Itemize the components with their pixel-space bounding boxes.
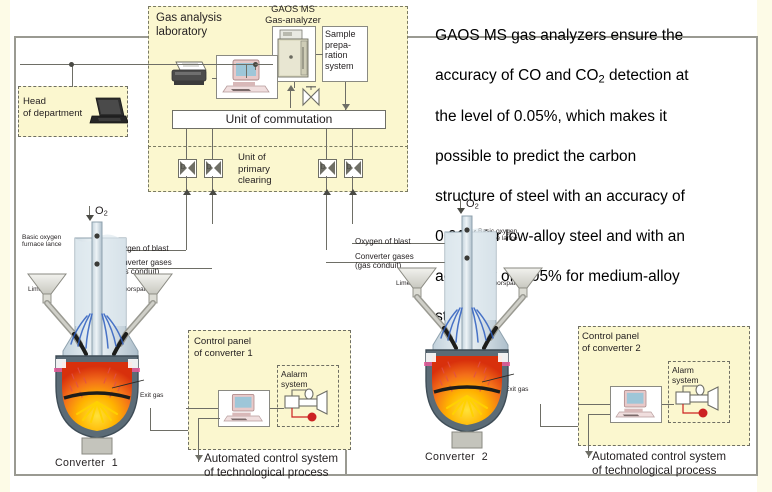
line-clearing-down-4 <box>352 176 353 224</box>
sample-valve-icon <box>300 86 322 108</box>
line-conv2-to-cp2 <box>540 426 578 427</box>
unit-of-commutation-label: Unit of commutation <box>172 113 386 126</box>
control-panel-2-computer <box>610 386 662 423</box>
line-printer-to-comp <box>212 78 217 79</box>
arrow-cp1-acs <box>195 455 203 461</box>
line-cp2-in <box>578 404 610 405</box>
converter-2-illustration <box>388 210 553 450</box>
converter-2-name: Converter 2 <box>425 452 488 464</box>
gaos-analyzer-title: GAOS MS Gas-analyzer <box>258 4 328 26</box>
arrow-up-2 <box>209 189 217 195</box>
line-bus-to-gaos <box>255 64 273 65</box>
line-gaos-to-sample <box>316 54 323 55</box>
computer-icon <box>611 387 661 422</box>
line-conv2-riser <box>540 404 541 426</box>
clearing-valve-3: D <box>318 159 337 178</box>
head-of-department-label: Head of department <box>23 96 82 119</box>
line-clearing-down-2 <box>212 176 213 224</box>
line-clearing-down-3 <box>326 176 327 250</box>
arrow-valve-up <box>287 85 295 91</box>
control-panel-2-title: Control panel of converter 2 <box>582 331 641 354</box>
line-bus-to-comp <box>246 64 247 78</box>
line-head-drop <box>72 64 73 87</box>
clearing-valve-4: D <box>344 159 363 178</box>
automated-control-system-1-label: Automated control system of technologica… <box>204 452 338 480</box>
arrow-up-1 <box>183 189 191 195</box>
control-panel-1-computer <box>218 390 270 427</box>
junction-dot-head <box>69 62 74 67</box>
clearing-valve-1: D <box>178 159 197 178</box>
line-valve-up <box>290 88 291 108</box>
converter-1-illustration <box>18 216 183 456</box>
automated-control-system-2-label: Automated control system of technologica… <box>592 450 726 478</box>
clearing-valve-2: D <box>204 159 223 178</box>
computer-icon <box>217 56 277 98</box>
control-panel-1-title: Control panel of converter 1 <box>194 336 253 359</box>
desc-line-2a: accuracy of CO and CO <box>435 67 598 84</box>
line-cp2-acs-stub <box>588 414 610 415</box>
desc-line-4: possible to predict the carbon <box>435 148 636 165</box>
converter-2-o2-label: O2 <box>466 198 479 211</box>
line-cp1-acs-stub <box>198 418 220 419</box>
line-lab-bus <box>20 64 255 65</box>
laptop-icon <box>88 96 128 135</box>
line-commut-leg-4 <box>352 129 353 159</box>
unit-of-primary-clearing-label: Unit of primary clearing <box>238 152 272 187</box>
line-commut-leg-2 <box>212 129 213 159</box>
line-clearing-down-1 <box>186 176 187 250</box>
line-commut-leg-3 <box>326 129 327 159</box>
line-cp1-alarm-link <box>270 408 284 409</box>
laboratory-computer-box <box>216 55 278 99</box>
arrow-sample-down <box>342 104 350 110</box>
arrow-up-4 <box>349 189 357 195</box>
desc-line-1: GAOS MS gas analyzers ensure the <box>435 27 683 44</box>
sample-preparation-system-label: Sample prepa- ration system <box>325 29 367 71</box>
converter-1-name: Converter 1 <box>55 458 118 470</box>
line-commut-leg-1 <box>186 129 187 159</box>
siren-icon <box>282 386 336 429</box>
arrow-up-3 <box>323 189 331 195</box>
line-conv1-riser <box>150 408 151 430</box>
gas-analyzer-cabinet-icon <box>273 27 315 81</box>
line-conv1-to-cp1 <box>150 430 188 431</box>
line-cp2-alarm-link <box>662 404 674 405</box>
desc-line-2b: detection at <box>605 67 689 84</box>
line-cp1-in <box>186 408 218 409</box>
diagram-canvas: GAOS MS gas analyzers ensure the accurac… <box>0 0 772 492</box>
gas-analysis-laboratory-title: Gas analysis laboratory <box>156 12 222 39</box>
gaos-analyzer-box <box>272 26 316 82</box>
computer-icon <box>219 391 269 426</box>
left-margin-strip <box>0 0 10 492</box>
desc-line-3: the level of 0.05%, which makes it <box>435 108 667 125</box>
outer-frame-left <box>14 36 16 476</box>
siren-icon <box>673 382 727 425</box>
